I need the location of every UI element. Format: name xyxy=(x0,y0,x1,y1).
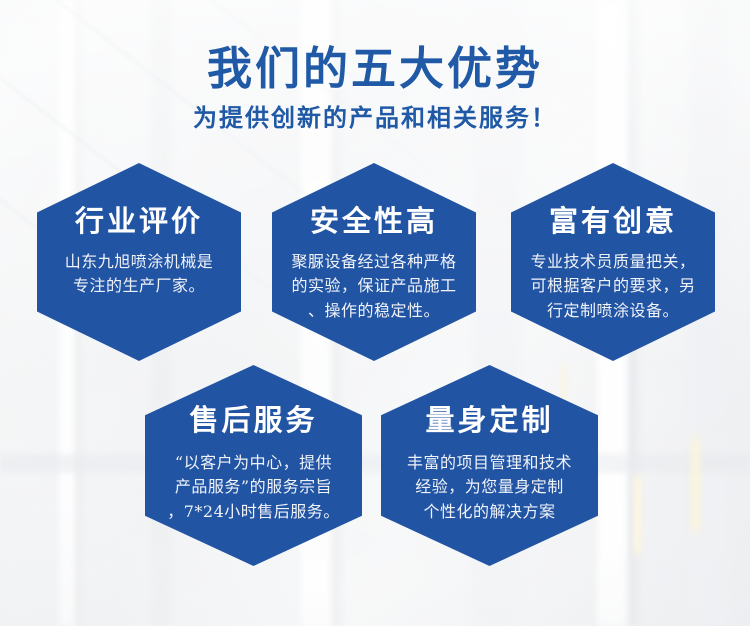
advantage-description: 山东九旭喷涂机械是 专注的生产厂家。 xyxy=(46,250,232,299)
advantage-description: “以客户为中心，提供 产品服务”的服务宗旨 ，7*24小时售后服务。 xyxy=(151,451,357,524)
advantage-title: 行业评价 xyxy=(75,207,203,236)
page-subtitle: 为提供创新的产品和相关服务！ xyxy=(0,92,750,131)
advantage-title: 安全性高 xyxy=(310,207,438,236)
advantage-desc-line: 产品服务”的服务宗旨 xyxy=(151,475,357,499)
advantage-description: 聚脲设备经过各种严格 的实验，保证产品施工 、操作的稳定性。 xyxy=(281,250,467,323)
advantage-desc-line: 的实验，保证产品施工 xyxy=(281,274,467,298)
advantage-desc-line: 、操作的稳定性。 xyxy=(281,299,467,323)
advantage-desc-line: ，7*24小时售后服务。 xyxy=(151,500,357,524)
background-light-strip-2 xyxy=(690,430,701,540)
advantage-desc-line: 经验，为您量身定制 xyxy=(387,475,593,499)
background-light-strip-1 xyxy=(633,470,642,560)
advantage-description: 专业技术员质量把关， 可根据客户的要求，另 行定制喷涂设备。 xyxy=(520,250,706,323)
advantage-desc-line: 专业技术员质量把关， xyxy=(520,250,706,274)
advantage-desc-line: 个性化的解决方案 xyxy=(387,500,593,524)
advantages-banner: 我们的五大优势 为提供创新的产品和相关服务！ 行业评价 山东九旭喷涂机械是 专注… xyxy=(0,0,750,626)
advantage-desc-line: 山东九旭喷涂机械是 xyxy=(46,250,232,274)
advantage-hexagon-after-sales-service[interactable]: 售后服务 “以客户为中心，提供 产品服务”的服务宗旨 ，7*24小时售后服务。 xyxy=(145,365,362,566)
page-title: 我们的五大优势 xyxy=(0,0,750,92)
advantage-title: 量身定制 xyxy=(425,406,553,435)
advantage-desc-line: 专注的生产厂家。 xyxy=(46,274,232,298)
advantage-title: 富有创意 xyxy=(549,207,677,236)
advantage-desc-line: 丰富的项目管理和技术 xyxy=(387,451,593,475)
advantage-title: 售后服务 xyxy=(189,406,317,435)
advantage-hexagon-industry-reputation[interactable]: 行业评价 山东九旭喷涂机械是 专注的生产厂家。 xyxy=(37,163,241,361)
advantage-desc-line: 行定制喷涂设备。 xyxy=(520,299,706,323)
advantage-desc-line: “以客户为中心，提供 xyxy=(151,451,357,475)
advantage-hexagon-creative[interactable]: 富有创意 专业技术员质量把关， 可根据客户的要求，另 行定制喷涂设备。 xyxy=(511,163,715,361)
advantage-hexagon-high-safety[interactable]: 安全性高 聚脲设备经过各种严格 的实验，保证产品施工 、操作的稳定性。 xyxy=(272,163,476,361)
advantage-desc-line: 可根据客户的要求，另 xyxy=(520,274,706,298)
advantage-description: 丰富的项目管理和技术 经验，为您量身定制 个性化的解决方案 xyxy=(387,451,593,524)
advantage-desc-line: 聚脲设备经过各种严格 xyxy=(281,250,467,274)
banner-header: 我们的五大优势 为提供创新的产品和相关服务！ xyxy=(0,0,750,132)
